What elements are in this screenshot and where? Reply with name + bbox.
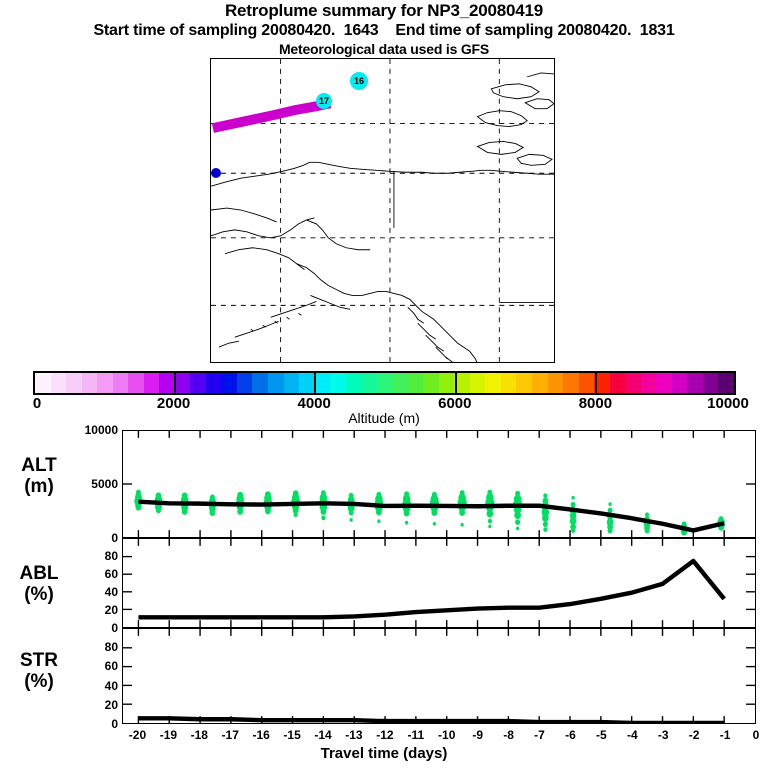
altitude-colorbar[interactable] [33, 371, 736, 395]
colorbar-segment [516, 373, 532, 393]
x-tick-label: -16 [252, 728, 269, 742]
y-tick-label: 20 [62, 603, 118, 617]
colorbar-segment [656, 373, 672, 393]
colorbar-segment [299, 373, 315, 393]
map-marker-label: 17 [319, 97, 329, 106]
abl-label-line1: ABL [8, 563, 70, 584]
y-tick-label: 40 [62, 679, 118, 693]
colorbar-segment [672, 373, 688, 393]
y-tick-label: 0 [62, 531, 118, 545]
colorbar-segment [563, 373, 579, 393]
map-marker-16: 16 [350, 72, 368, 90]
map-marker-17: 17 [316, 93, 332, 109]
alt-panel[interactable] [122, 430, 756, 538]
colorbar-segment [330, 373, 346, 393]
colorbar-segment [128, 373, 144, 393]
abl-line [138, 561, 724, 617]
colorbar-segment [346, 373, 362, 393]
colorbar-segment [687, 373, 703, 393]
retroplume-trajectory [213, 100, 330, 129]
colorbar-segment [703, 373, 719, 393]
map-marker-label: 16 [354, 77, 364, 86]
alt-label-line2: (m) [8, 476, 70, 497]
abl-panel[interactable] [122, 538, 756, 628]
colorbar-segment [718, 373, 734, 393]
colorbar-segment [51, 373, 67, 393]
x-tick-label: -8 [503, 728, 514, 742]
x-tick-label: -9 [472, 728, 483, 742]
colorbar-segment [175, 373, 191, 393]
x-tick-label: -15 [283, 728, 300, 742]
colorbar-segment [392, 373, 408, 393]
str-label-line1: STR [8, 650, 70, 671]
colorbar-segment [641, 373, 657, 393]
xaxis-title: Travel time (days) [0, 745, 768, 762]
x-tick-label: -10 [438, 728, 455, 742]
map-gridlines [211, 59, 554, 362]
colorbar-segment [548, 373, 564, 393]
colorbar-segment [113, 373, 129, 393]
colorbar-segment [501, 373, 517, 393]
colorbar-segment [470, 373, 486, 393]
colorbar-segment [35, 373, 51, 393]
str-plot [123, 629, 755, 723]
colorbar-segment [252, 373, 268, 393]
political-borders [394, 171, 554, 302]
abl-axis-label: ABL (%) [8, 563, 70, 605]
str-panel[interactable] [122, 628, 756, 724]
abl-label-line2: (%) [8, 584, 70, 605]
str-axis-label: STR (%) [8, 650, 70, 692]
map-panel[interactable]: 1617 [210, 58, 555, 363]
x-tick-label: -11 [407, 728, 424, 742]
x-tick-label: -4 [627, 728, 638, 742]
colorbar-segment [190, 373, 206, 393]
y-tick-label: 20 [62, 698, 118, 712]
colorbar-segment [206, 373, 222, 393]
page-title: Retroplume summary for NP3_20080419 [0, 0, 768, 21]
colorbar-segment [532, 373, 548, 393]
y-tick-label: 40 [62, 585, 118, 599]
y-tick-label: 0 [62, 621, 118, 635]
x-tick-label: -6 [565, 728, 576, 742]
met-data-line: Meteorological data used is GFS [0, 41, 768, 58]
x-tick-label: -20 [129, 728, 146, 742]
x-tick-label: -18 [191, 728, 208, 742]
colorbar-segment [159, 373, 175, 393]
colorbar-segment [423, 373, 439, 393]
colorbar-segment [377, 373, 393, 393]
colorbar-segment [361, 373, 377, 393]
colorbar-segment [408, 373, 424, 393]
abl-plot [123, 539, 755, 627]
colorbar-segment [82, 373, 98, 393]
x-tick-label: -5 [596, 728, 607, 742]
colorbar-segment [439, 373, 455, 393]
colorbar-segment [144, 373, 160, 393]
alt-axis-label: ALT (m) [8, 455, 70, 497]
alt-label-line1: ALT [8, 455, 70, 476]
alt-mean-line [138, 502, 724, 531]
alt-plot [123, 431, 755, 537]
colorbar-segment [315, 373, 331, 393]
x-tick-label: -17 [222, 728, 239, 742]
str-tickmarks [123, 629, 755, 723]
y-tick-label: 60 [62, 567, 118, 581]
x-tick-label: -19 [160, 728, 177, 742]
x-tick-label: -14 [314, 728, 331, 742]
x-tick-label: -2 [689, 728, 700, 742]
xaxis-tick-labels: -20-19-18-17-16-15-14-13-12-11-10-9-8-7-… [0, 728, 768, 744]
alt-scatter-points [134, 490, 725, 536]
y-tick-label: 60 [62, 659, 118, 673]
colorbar-segment [268, 373, 284, 393]
colorbar-segment [625, 373, 641, 393]
x-tick-label: -1 [720, 728, 731, 742]
x-tick-label: -3 [658, 728, 669, 742]
y-tick-label: 80 [62, 640, 118, 654]
y-tick-label: 10000 [62, 423, 118, 437]
x-tick-label: -13 [345, 728, 362, 742]
title-block: Retroplume summary for NP3_20080419 Star… [0, 0, 768, 58]
str-label-line2: (%) [8, 671, 70, 692]
map-canvas [211, 59, 554, 362]
colorbar-segment [579, 373, 595, 393]
x-tick-label: -7 [534, 728, 545, 742]
colorbar-segment [97, 373, 113, 393]
x-tick-label: -12 [376, 728, 393, 742]
sampling-time-line: Start time of sampling 20080420. 1643 En… [0, 21, 768, 41]
y-tick-label: 80 [62, 549, 118, 563]
colorbar-segment [594, 373, 610, 393]
colorbar-segment [66, 373, 82, 393]
colorbar-segment [454, 373, 470, 393]
colorbar-segment [485, 373, 501, 393]
x-tick-label: 0 [753, 728, 760, 742]
colorbar-segment [284, 373, 300, 393]
colorbar-segment [221, 373, 237, 393]
map-marker-24 [211, 168, 221, 178]
y-tick-label: 5000 [62, 477, 118, 491]
colorbar-segment [610, 373, 626, 393]
str-line [138, 718, 724, 723]
colorbar-segment [237, 373, 253, 393]
